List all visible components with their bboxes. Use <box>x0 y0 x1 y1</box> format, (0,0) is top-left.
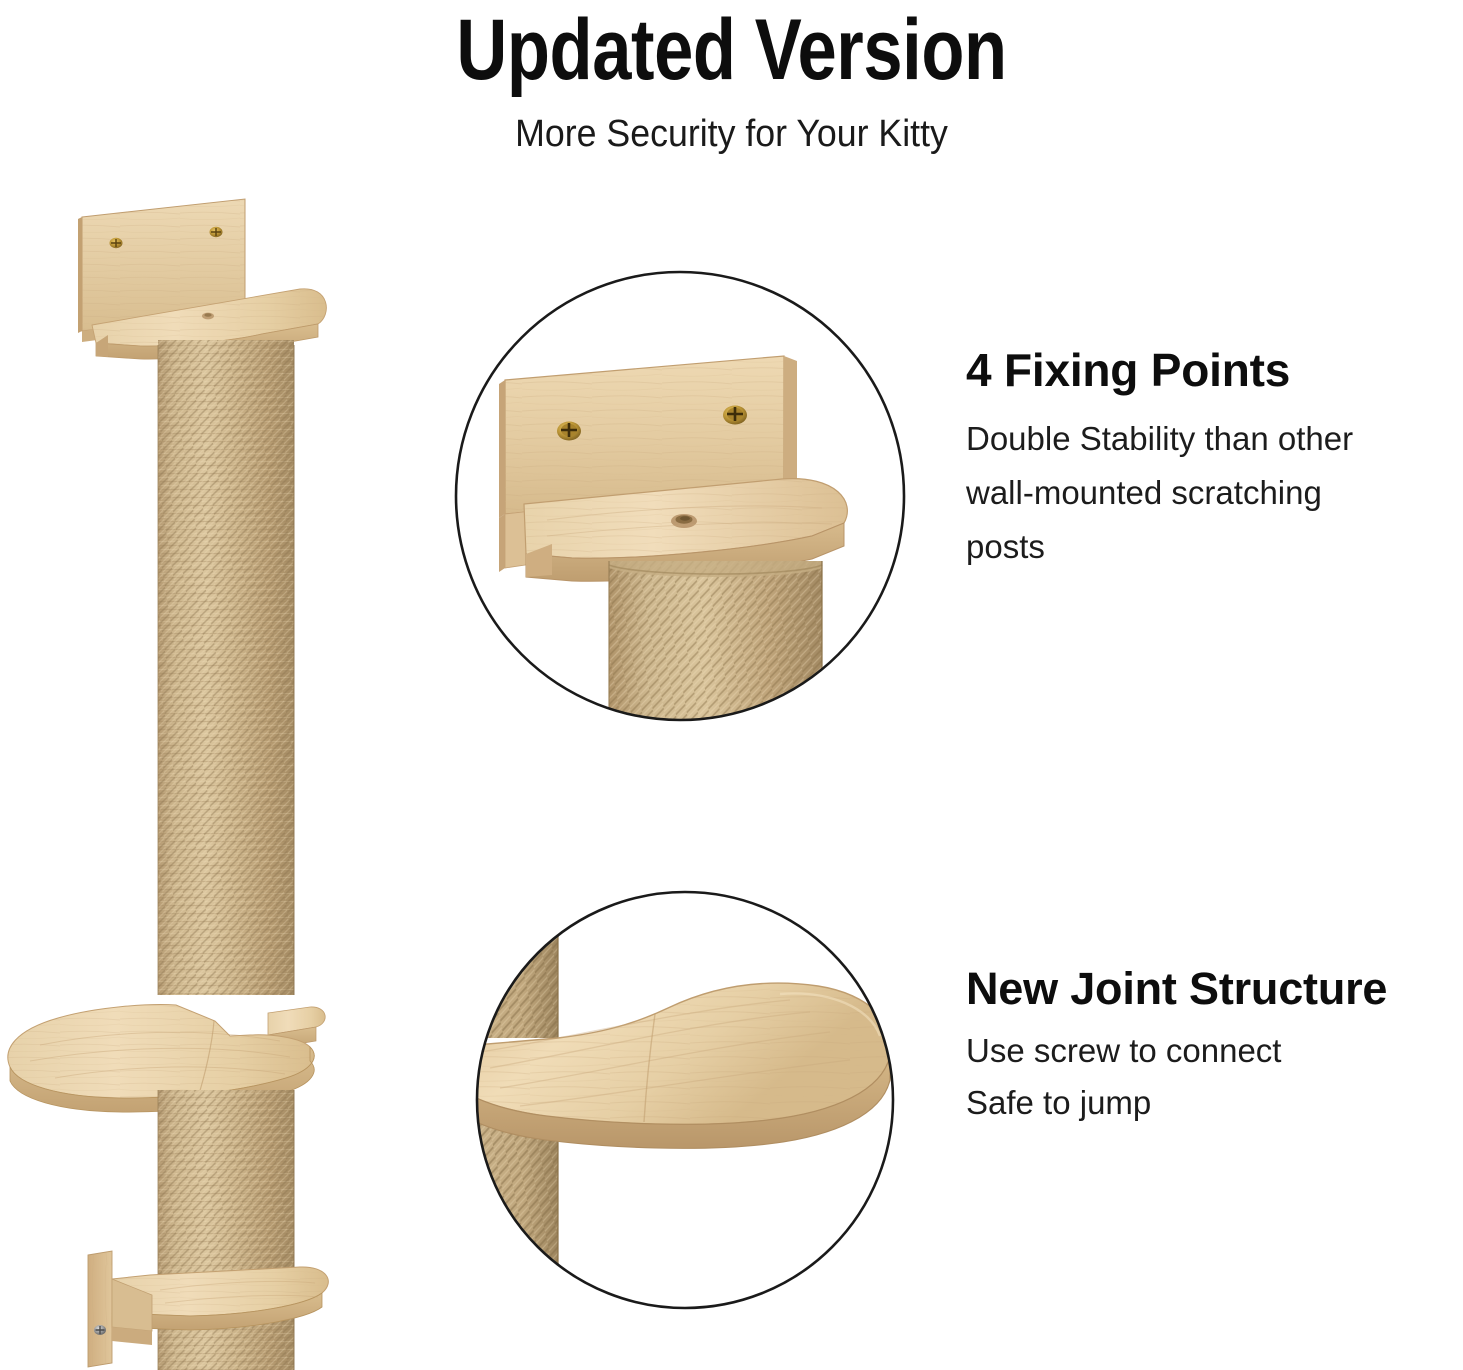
feature-block-joint-structure: New Joint Structure Use screw to connect… <box>966 963 1463 1129</box>
feature-body-line: wall-mounted scratching <box>966 466 1463 520</box>
detail-sisal-post <box>609 561 822 728</box>
upper-sisal-post <box>158 340 294 995</box>
page-subtitle: More Security for Your Kitty <box>44 98 1419 156</box>
product-photo <box>0 185 420 1370</box>
page-title: Updated Version <box>132 0 1332 98</box>
joint-sisal-lower <box>450 1118 558 1310</box>
bracket-screw-right <box>210 227 223 237</box>
feature-body-line: Double Stability than other <box>966 412 1463 466</box>
feature-body-line: Safe to jump <box>966 1077 1463 1129</box>
feature-heading: 4 Fixing Points <box>966 344 1463 396</box>
header-block: Updated Version More Security for Your K… <box>0 0 1463 156</box>
detail-circle-fixing-points <box>452 268 912 728</box>
detail-screw-left <box>557 422 581 441</box>
bracket-screw-left <box>110 238 123 248</box>
feature-block-fixing-points: 4 Fixing Points Double Stability than ot… <box>966 344 1463 574</box>
bracket-screw-bottom <box>94 1325 106 1335</box>
feature-body-line: posts <box>966 520 1463 574</box>
detail-screw-right <box>723 406 747 425</box>
feature-body: Double Stability than other wall-mounted… <box>966 396 1463 574</box>
detail-circle-joint-structure <box>450 890 920 1310</box>
feature-body-line: Use screw to connect <box>966 1025 1463 1077</box>
feature-body: Use screw to connect Safe to jump <box>966 1015 1463 1129</box>
joint-sisal-upper <box>450 890 558 1040</box>
feature-heading: New Joint Structure <box>966 963 1463 1015</box>
